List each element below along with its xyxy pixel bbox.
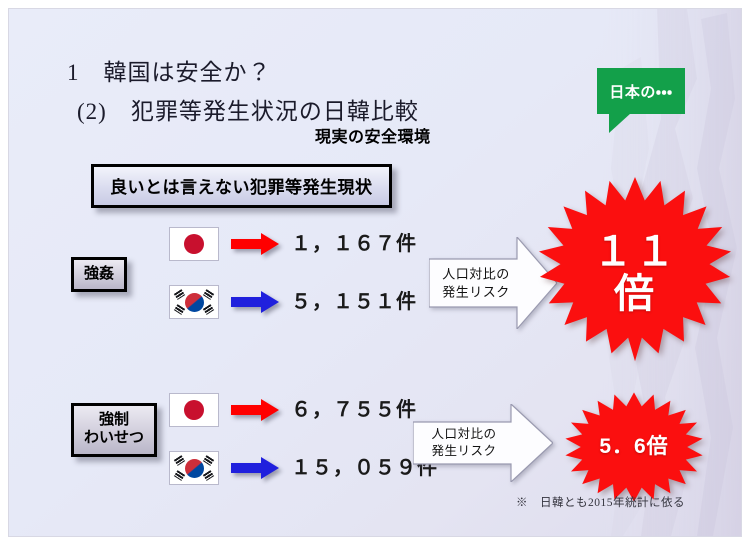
korea-flag-taeguk [185,459,204,478]
korea-flag-trigram [203,470,214,481]
count-value: ６，７５５件 [291,393,417,422]
korea-flag-icon [169,285,219,319]
title-line-secondary: (2) 犯罪等発生状況の日韓比較 [77,92,419,126]
red-arrow-icon [231,399,279,421]
count-value: ５，１５１件 [291,285,417,314]
risk-arrow-label: 人口対比の 発生リスク [437,265,515,300]
korea-flag-trigram [174,304,185,315]
red-arrow-icon [231,233,279,255]
korea-flag-trigram [203,304,214,315]
multiplier-value: １１ 倍 [537,231,733,315]
count-value: １，１６７件 [291,227,417,256]
korea-flag-trigram [174,289,185,300]
category-label: 強姦 [71,257,127,292]
multiplier-value: 5．6倍 [561,436,707,458]
slide-canvas: 1 韓国は安全か？ (2) 犯罪等発生状況の日韓比較 現実の安全環境 良いとは言… [8,8,742,537]
callout-bubble: 日本の・・・ [597,68,685,114]
japan-flag-disc [184,234,204,254]
blue-arrow-icon [231,291,279,313]
blue-arrow-icon [231,457,279,479]
korea-flag-taeguk [185,293,204,312]
banner-headline: 良いとは言えない犯罪等発生現状 [91,164,392,208]
footnote: ※ 日韓とも2015年統計に依る [516,494,685,510]
japan-flag-icon [169,393,219,427]
multiplier-burst: １１ 倍 [537,175,733,371]
risk-arrow: 人口対比の 発生リスク [413,404,553,482]
korea-flag-trigram [203,289,214,300]
japan-flag-disc [184,400,204,420]
korea-flag-trigram [174,455,185,466]
korea-flag-trigram [174,470,185,481]
subtitle: 現実の安全環境 [315,123,431,147]
category-label: 強制 わいせつ [71,403,157,457]
risk-arrow-label: 人口対比の 発生リスク [423,426,505,460]
multiplier-burst: 5．6倍 [561,391,707,503]
callout-label: 日本の・・・ [609,81,672,102]
korea-flag-trigram [203,455,214,466]
page-title: 1 韓国は安全か？ (2) 犯罪等発生状況の日韓比較 [67,53,419,126]
japan-flag-icon [169,227,219,261]
callout-tail [609,113,631,133]
korea-flag-icon [169,451,219,485]
title-line-primary: 1 韓国は安全か？ [67,53,419,87]
